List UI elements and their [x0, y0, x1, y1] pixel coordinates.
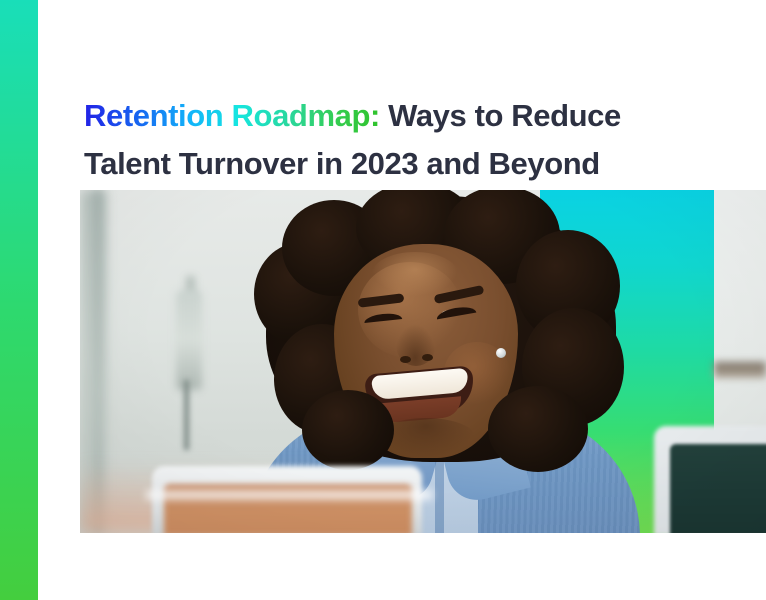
photo-plant-stem: [184, 380, 189, 450]
subject-forehead-highlight: [372, 252, 458, 296]
photo-bottle: [176, 290, 202, 390]
subject-hair-puff: [488, 386, 588, 472]
photo-right-ledge: [714, 362, 766, 378]
photo-laptop-right-screen: [670, 444, 766, 533]
subject-nostril-left: [400, 356, 411, 363]
page-title: Retention Roadmap: Ways to Reduce Talent…: [84, 92, 704, 188]
page-title-highlight: Retention Roadmap:: [84, 98, 380, 133]
hero-photo: [80, 190, 766, 533]
photo-laptop-foreground-edge: [146, 490, 432, 500]
left-gradient-accent-bar: [0, 0, 38, 600]
subject-hair-puff: [302, 390, 394, 470]
subject-earring: [496, 348, 506, 358]
page-root: Retention Roadmap: Ways to Reduce Talent…: [0, 0, 766, 600]
subject-nostril-right: [422, 354, 433, 361]
